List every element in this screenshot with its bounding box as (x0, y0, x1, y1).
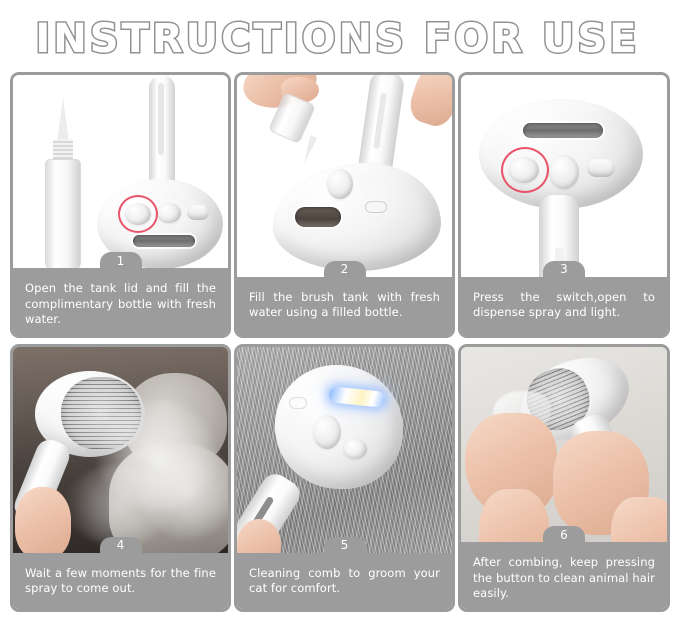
step-4-caption-bar: 4 Wait a few moments for the fine spray … (13, 553, 228, 609)
center-button (313, 415, 341, 449)
scene-hands-cleaning-brush (461, 347, 667, 542)
step-5-caption-text: Cleaning comb to groom your cat for comf… (249, 566, 440, 595)
step-3-number: 3 (543, 261, 585, 279)
button-outline-icon (365, 201, 387, 213)
step-4-number: 4 (100, 537, 142, 555)
step-3-caption-text: Press the switch,open to dispense spray … (473, 290, 655, 319)
step-panel-3: 3 Press the switch,open to dispense spra… (458, 72, 670, 338)
side-button (587, 159, 615, 177)
step-3-photo (461, 75, 667, 277)
scene-spray-on-cat (13, 347, 228, 553)
step-panel-6: 6 After combing, keep pressing the butto… (458, 344, 670, 612)
forearm-left (479, 489, 549, 542)
center-button (157, 203, 181, 223)
tank-window (133, 235, 195, 247)
step-6-number: 6 (543, 526, 585, 544)
scene-brush-on-fur (237, 347, 452, 553)
bottle-tip (57, 97, 69, 143)
step-2-number: 2 (324, 261, 366, 279)
step-panel-1: 1 Open the tank lid and fill the complim… (10, 72, 231, 338)
instruction-steps-grid: 1 Open the tank lid and fill the complim… (0, 72, 675, 612)
hand-right (405, 75, 452, 130)
step-4-caption-text: Wait a few moments for the fine spray to… (25, 566, 216, 595)
step-3-caption-bar: 3 Press the switch,open to dispense spra… (461, 277, 667, 335)
device-head (479, 99, 643, 209)
scene-hand-filling-tank (237, 75, 452, 277)
step-1-caption-bar: 1 Open the tank lid and fill the complim… (13, 268, 228, 335)
side-button (343, 439, 367, 459)
step-panel-5: 5 Cleaning comb to groom your cat for co… (234, 344, 455, 612)
bottle-neck (53, 139, 73, 161)
center-button (549, 155, 579, 189)
side-button (187, 205, 209, 220)
step-5-number: 5 (324, 537, 366, 555)
scene-bottle-and-device (13, 75, 228, 268)
hand-holding-brush (15, 487, 71, 553)
step-5-caption-bar: 5 Cleaning comb to groom your cat for co… (237, 553, 452, 609)
tank-window (295, 207, 341, 227)
step-2-caption-text: Fill the brush tank with fresh water usi… (249, 290, 440, 319)
step-panel-4: 4 Wait a few moments for the fine spray … (10, 344, 231, 612)
step-6-caption-text: After combing, keep pressing the button … (473, 555, 655, 599)
step-1-photo (13, 75, 228, 268)
bottle-tip (301, 135, 318, 164)
page-header: INSTRUCTIONS FOR USE (0, 0, 675, 72)
step-panel-2: 2 Fill the brush tank with fresh water u… (234, 72, 455, 338)
step-2-caption-bar: 2 Fill the brush tank with fresh water u… (237, 277, 452, 335)
button-outline-icon (289, 397, 307, 409)
spray-mist (65, 465, 175, 545)
highlight-ring-icon (118, 195, 158, 233)
step-6-photo (461, 347, 667, 542)
forearm-right (611, 497, 667, 542)
bottle-body (45, 159, 81, 268)
tank-window (523, 123, 603, 138)
step-2-photo (237, 75, 452, 277)
handle-slot (158, 83, 164, 155)
highlight-ring-icon (501, 147, 549, 193)
step-5-photo (237, 347, 452, 553)
step-6-caption-bar: 6 After combing, keep pressing the butto… (461, 542, 667, 609)
page-title: INSTRUCTIONS FOR USE (35, 16, 639, 62)
step-4-photo (13, 347, 228, 553)
step-1-caption-text: Open the tank lid and fill the complimen… (25, 281, 216, 325)
scene-device-head-closeup (461, 75, 667, 277)
step-1-number: 1 (100, 252, 142, 270)
tank-cap (327, 169, 353, 199)
